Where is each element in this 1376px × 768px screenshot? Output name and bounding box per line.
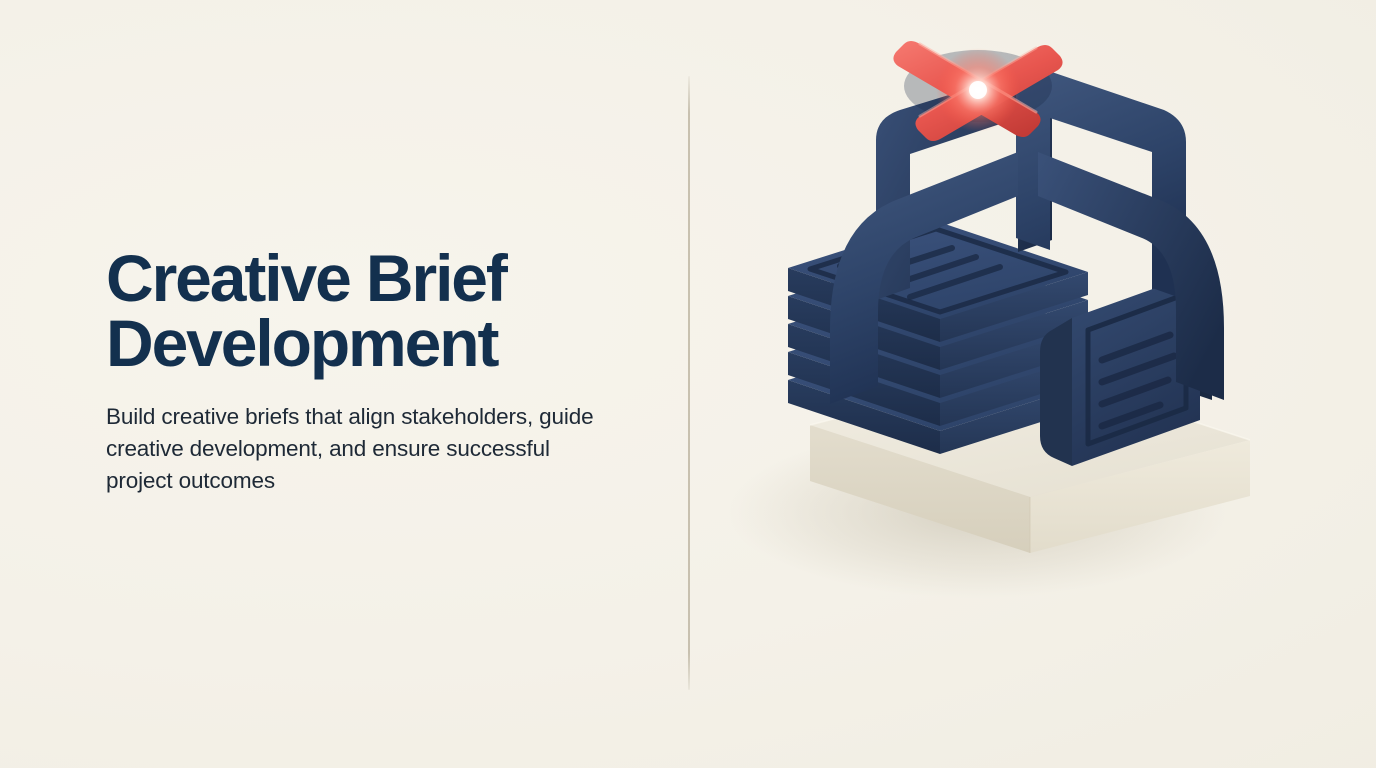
red-cross-marker bbox=[893, 41, 1062, 141]
page-subtitle: Build creative briefs that align stakeho… bbox=[106, 401, 616, 497]
slide-root: Creative Brief Development Build creativ… bbox=[0, 0, 1376, 768]
text-pane: Creative Brief Development Build creativ… bbox=[106, 246, 646, 497]
isometric-document-stack-icon bbox=[700, 0, 1376, 768]
vertical-divider bbox=[688, 76, 690, 690]
page-title-line-2: Development bbox=[106, 311, 646, 376]
page-title-line-1: Creative Brief bbox=[106, 246, 646, 311]
page-title: Creative Brief Development bbox=[106, 246, 646, 375]
illustration-stage bbox=[700, 0, 1376, 768]
